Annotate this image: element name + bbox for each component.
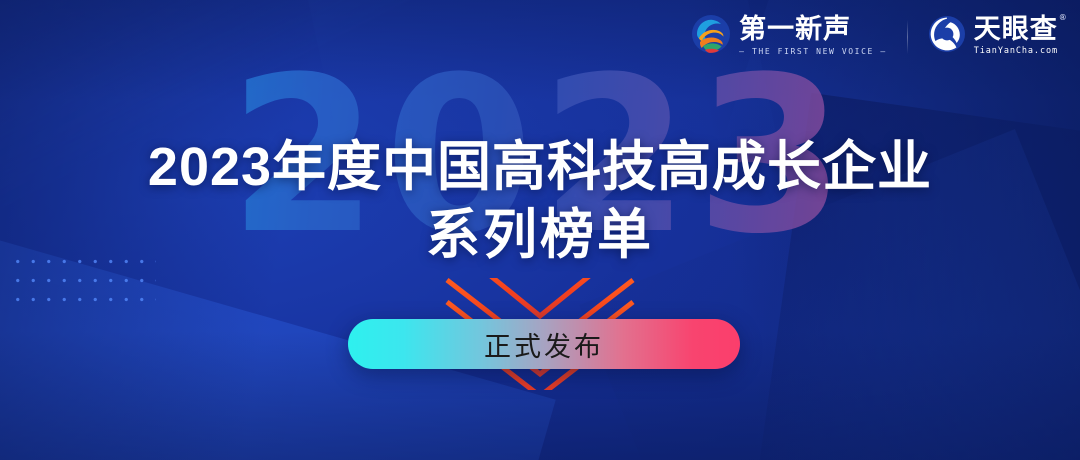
logo-tianyancha-name-wrap: 天眼查 ®	[974, 16, 1058, 45]
headline-line-1: 2023年度中国高科技高成长企业	[0, 136, 1080, 198]
logo-tianyancha-text: 天眼查 ® TianYanCha.com	[974, 16, 1058, 58]
page-title: 2023年度中国高科技高成长企业 系列榜单	[0, 136, 1080, 266]
logo-tianyancha-name: 天眼查	[974, 14, 1058, 45]
aperture-eye-icon	[928, 15, 966, 58]
headline-line-2: 系列榜单	[0, 204, 1080, 266]
release-badge-button[interactable]: 正式发布	[348, 319, 740, 369]
logo-bar: 第一新声 — THE FIRST NEW VOICE — 天眼查 ®	[691, 14, 1058, 59]
logo-diyixinsheng-name: 第一新声	[739, 16, 887, 45]
logo-divider	[907, 20, 908, 54]
logo-tianyancha-tagline: TianYanCha.com	[974, 46, 1058, 57]
swirl-globe-icon	[691, 14, 731, 59]
release-badge-label: 正式发布	[484, 325, 604, 364]
logo-diyixinsheng-text: 第一新声 — THE FIRST NEW VOICE —	[739, 16, 887, 57]
logo-tianyancha[interactable]: 天眼查 ® TianYanCha.com	[928, 15, 1058, 58]
logo-diyixinsheng[interactable]: 第一新声 — THE FIRST NEW VOICE —	[691, 14, 887, 59]
registered-trademark-icon: ®	[1059, 14, 1067, 22]
logo-diyixinsheng-tagline: — THE FIRST NEW VOICE —	[739, 47, 887, 57]
promo-banner: 2023 2023年度中国高科技高成长企业 系列榜单 正式发布	[0, 0, 1080, 460]
